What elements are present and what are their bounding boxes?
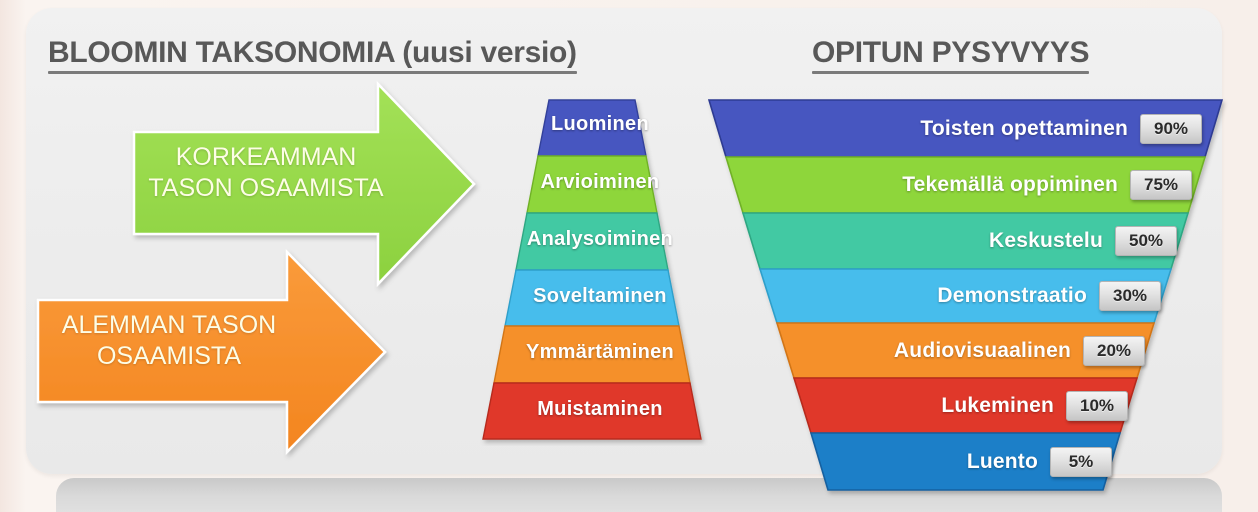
title-underline-left [48,71,577,74]
funnel-band-demonstraatio [760,269,1171,323]
slide-canvas: BLOOMIN TAKSONOMIA (uusi versio) OPITUN … [0,0,1258,512]
page-title-left: BLOOMIN TAKSONOMIA (uusi versio) [48,36,577,74]
page-title-left-text: BLOOMIN TAKSONOMIA (uusi versio) [48,36,577,69]
pyramid-band-luominen [538,100,646,156]
pyramid-band-soveltaminen [505,270,679,326]
pyramid-band-muistaminen [483,383,701,439]
funnel-band-keskustelu [743,213,1188,269]
page-title-right: OPITUN PYSYVYYS [812,36,1089,74]
learning-retention-funnel: Toisten opettaminen 90% Tekemällä oppimi… [700,96,1240,500]
funnel-band-luento [811,433,1120,490]
funnel-band-toisten-opettaminen [709,100,1222,157]
pyramid-band-arvioiminen [527,156,657,213]
page-title-right-text: OPITUN PYSYVYYS [812,36,1089,69]
pyramid-band-analysoiminen [516,213,668,270]
lower-level-arrow: ALEMMAN TASON OSAAMISTA [33,248,393,460]
funnel-band-audiovisuaalinen [777,323,1154,378]
title-underline-right [812,71,1089,74]
funnel-band-lukeminen [794,378,1137,433]
pyramid-band-ymmartaminen [494,326,690,383]
funnel-band-tekemalla-oppiminen [726,157,1205,213]
